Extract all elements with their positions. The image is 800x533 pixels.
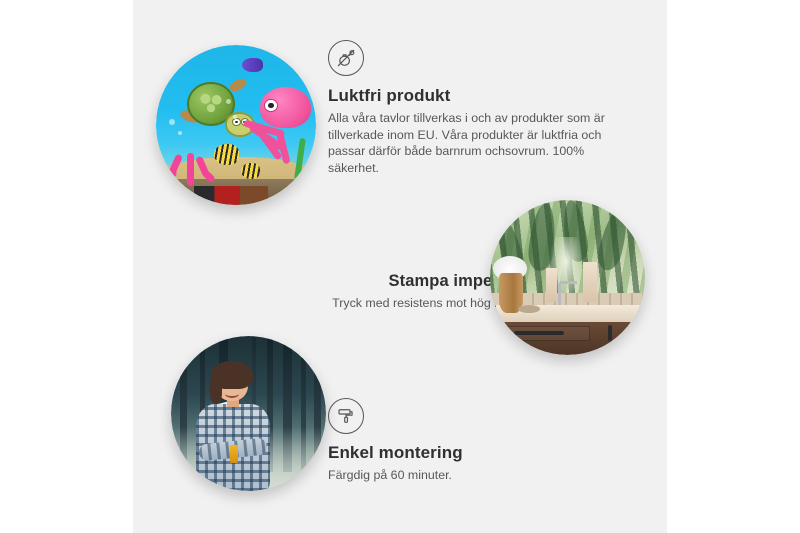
cabinet-handle <box>634 325 638 341</box>
faucet <box>558 281 577 306</box>
coral-graphic <box>166 144 214 186</box>
photo-forest-circle <box>171 336 326 491</box>
bubble <box>169 119 175 125</box>
feature-title: Enkel montering <box>328 443 628 463</box>
soap-dish <box>518 305 540 313</box>
turtle-graphic <box>182 79 252 140</box>
sea-foreground-strip <box>194 186 268 205</box>
feature-easy-mounting: Enkel montering Färgdig på 60 minuter. <box>328 398 628 484</box>
feature-body: Färgdig på 60 minuter. <box>328 467 628 484</box>
woman-hair-side <box>210 376 222 404</box>
bottle <box>583 262 597 302</box>
feature-body: Alla våra tavlor tillverkas i och av pro… <box>328 110 628 176</box>
fish-yellow-large <box>214 144 240 165</box>
octopus-graphic <box>246 87 313 161</box>
fish-purple <box>242 58 263 72</box>
content-panel: Luktfri produkt Alla våra tavlor tillver… <box>133 0 667 533</box>
feature-odorless: Luktfri produkt Alla våra tavlor tillver… <box>328 40 628 176</box>
hand-tool <box>230 445 238 464</box>
paint-roller-icon <box>328 398 364 434</box>
no-perfume-icon <box>328 40 364 76</box>
drawer-handle <box>514 331 564 335</box>
bottle <box>546 268 557 302</box>
wooden-vanity <box>490 322 645 355</box>
cabinet-handle <box>608 325 612 341</box>
photo-bathroom-circle <box>490 200 645 355</box>
promo-page: Luktfri produkt Alla våra tavlor tillver… <box>0 0 800 533</box>
photo-sea-circle <box>156 45 316 205</box>
fish-yellow-small <box>241 163 260 179</box>
feature-title: Luktfri produkt <box>328 86 628 106</box>
